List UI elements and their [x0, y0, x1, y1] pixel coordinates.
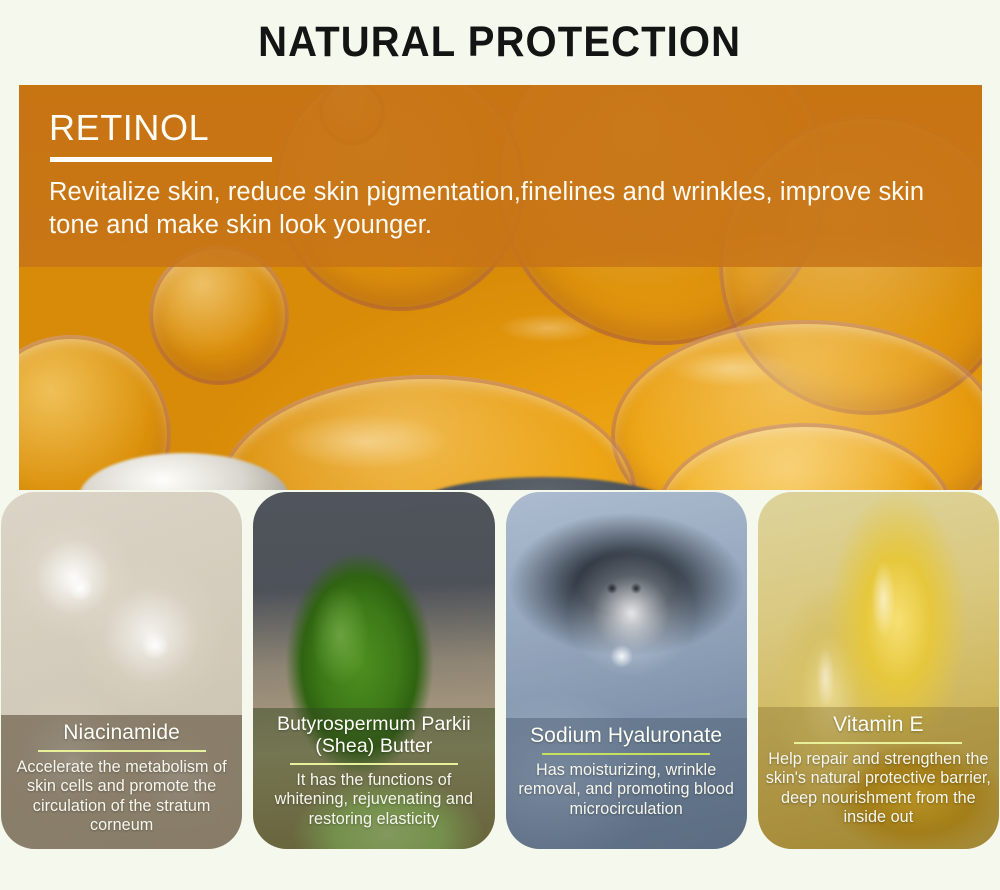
card-description: It has the functions of whitening, rejuv… — [260, 771, 487, 830]
ingredient-card-sodium-hyaluronate: Sodium Hyaluronate Has moisturizing, wri… — [506, 492, 747, 849]
page-header: NATURAL PROTECTION — [0, 0, 1000, 85]
page-title: NATURAL PROTECTION — [259, 18, 742, 67]
card-description: Accelerate the metabolism of skin cells … — [8, 758, 235, 836]
card-title: Sodium Hyaluronate — [513, 724, 740, 748]
card-caption: Sodium Hyaluronate Has moisturizing, wri… — [506, 718, 747, 849]
ingredient-card-row: Niacinamide Accelerate the metabolism of… — [0, 492, 1000, 849]
hero-heading: RETINOL — [49, 109, 956, 148]
ingredient-card-shea-butter: Butyrospermum Parkii (Shea) Butter It ha… — [253, 492, 494, 849]
card-caption: Niacinamide Accelerate the metabolism of… — [1, 715, 242, 849]
card-title: Niacinamide — [8, 721, 235, 745]
oil-bubble-icon — [217, 375, 637, 490]
card-description: Help repair and strengthen the skin's na… — [765, 750, 992, 828]
card-title-underline — [542, 753, 710, 755]
card-description: Has moisturizing, wrinkle removal, and p… — [513, 761, 740, 820]
hero-body-text: Revitalize skin, reduce skin pigmentatio… — [49, 176, 956, 241]
hero-banner: RETINOL Revitalize skin, reduce skin pig… — [19, 85, 982, 490]
card-title: Vitamin E — [765, 713, 992, 737]
card-title: Butyrospermum Parkii (Shea) Butter — [260, 714, 487, 758]
card-title-underline — [38, 750, 206, 752]
hero-copy: RETINOL Revitalize skin, reduce skin pig… — [49, 109, 956, 241]
ingredient-card-vitamin-e: Vitamin E Help repair and strengthen the… — [758, 492, 999, 849]
card-title-underline — [794, 742, 962, 744]
hero-heading-underline — [50, 157, 272, 162]
card-caption: Vitamin E Help repair and strengthen the… — [758, 707, 999, 849]
ingredient-card-niacinamide: Niacinamide Accelerate the metabolism of… — [1, 492, 242, 849]
card-title-underline — [290, 763, 458, 765]
card-caption: Butyrospermum Parkii (Shea) Butter It ha… — [253, 708, 494, 849]
